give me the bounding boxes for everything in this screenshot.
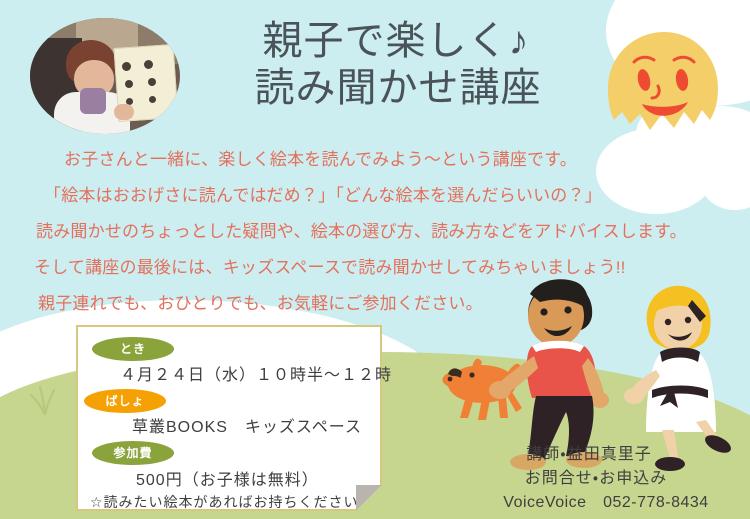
poster-canvas: 親子で楽しく♪ 読み聞かせ講座 お子さんと一緒に、楽しく絵本を読んでみよう〜とい…: [0, 0, 750, 519]
pill-fee: 参加費: [92, 441, 174, 465]
body-line-2: 「絵本はおおげさに読んではだめ？」「どんな絵本を選んだらいいの？」: [0, 178, 750, 214]
info-value-when: ４月２４日（水）１０時半〜１２時: [120, 361, 392, 385]
pill-when: とき: [92, 337, 174, 361]
sun-illustration: [598, 28, 730, 156]
body-line-1: お子さんと一緒に、楽しく絵本を読んでみよう〜という講座です。: [0, 142, 750, 178]
title-line-1: 親子で楽しく♪: [196, 18, 596, 65]
contact-heading: お問合せ・お申込み: [462, 467, 750, 491]
pill-where: ばしょ: [84, 389, 166, 413]
event-details-box: とき ４月２４日（水）１０時半〜１２時 ばしょ 草叢BOOKS キッズスペース …: [76, 325, 382, 511]
info-label-fee: 参加費: [92, 441, 174, 465]
page-fold-corner: [356, 485, 382, 511]
body-line-3: 読み聞かせのちょっとした疑問や、絵本の選び方、読み方などをアドバイスします。: [0, 214, 750, 250]
grass-tuft-icon: [28, 385, 62, 415]
smiling-sun-icon: [598, 28, 730, 156]
instructor-name: 講師・益田真里子: [462, 443, 750, 467]
contact-block: 講師・益田真里子 お問合せ・お申込み VoiceVoice 052-778-84…: [462, 443, 750, 515]
info-value-fee: 500円（お子様は無料）: [136, 466, 319, 490]
contact-org-phone[interactable]: VoiceVoice 052-778-8434: [462, 491, 750, 515]
info-value-where: 草叢BOOKS キッズスペース: [132, 413, 362, 437]
poster-title: 親子で楽しく♪ 読み聞かせ講座: [196, 18, 596, 112]
info-label-when: とき: [92, 337, 174, 361]
instructor-photo: [30, 18, 180, 134]
title-line-2: 読み聞かせ講座: [200, 65, 596, 112]
info-label-where: ばしょ: [84, 389, 166, 413]
info-note: ☆読みたい絵本があればお持ちください: [90, 492, 359, 512]
